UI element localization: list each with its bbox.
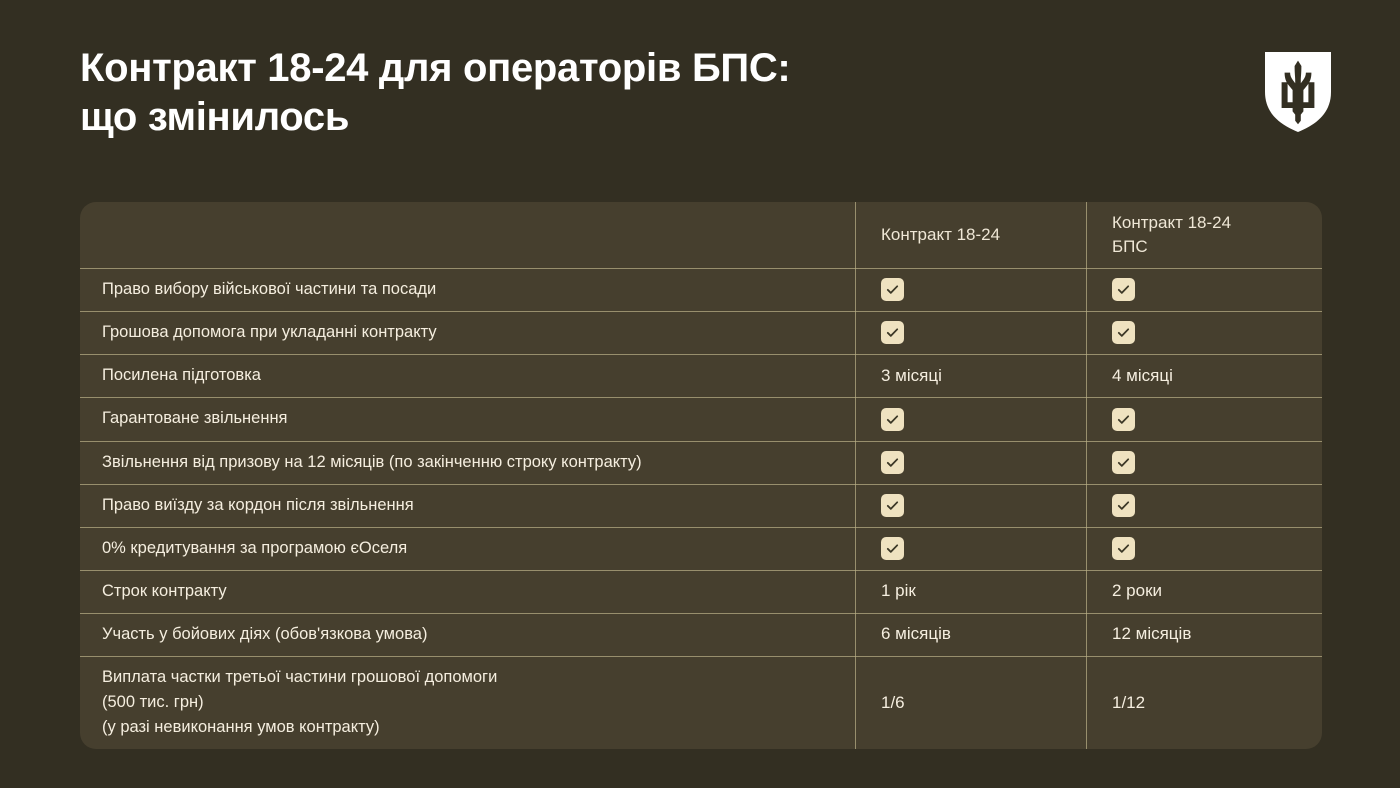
cell-contract-18-24: 6 місяців <box>855 613 1086 656</box>
header-cell-contract-18-24-bps: Контракт 18-24 БПС <box>1086 202 1322 268</box>
row-label: Право вибору військової частини та посад… <box>80 268 855 311</box>
table-row: Виплата частки третьої частини грошової … <box>80 656 1322 749</box>
table-row: Посилена підготовка 3 місяці 4 місяці <box>80 354 1322 397</box>
check-icon <box>881 451 904 474</box>
check-icon <box>1112 408 1135 431</box>
row-label: Виплата частки третьої частини грошової … <box>80 656 855 749</box>
cell-contract-18-24 <box>855 527 1086 570</box>
table-row: 0% кредитування за програмою єОселя <box>80 527 1322 570</box>
cell-contract-18-24-bps <box>1086 311 1322 354</box>
comparison-table: Контракт 18-24 Контракт 18-24 БПС Право … <box>80 202 1322 749</box>
check-icon <box>1112 494 1135 517</box>
check-icon <box>881 278 904 301</box>
cell-value: 12 місяців <box>1112 624 1191 644</box>
cell-contract-18-24-bps <box>1086 527 1322 570</box>
row-label: Строк контракту <box>80 570 855 613</box>
cell-value: 4 місяці <box>1112 366 1173 386</box>
cell-contract-18-24-bps: 4 місяці <box>1086 354 1322 397</box>
cell-contract-18-24 <box>855 268 1086 311</box>
cell-value: 1/6 <box>881 693 905 713</box>
cell-contract-18-24 <box>855 311 1086 354</box>
cell-value: 6 місяців <box>881 624 951 644</box>
check-icon <box>1112 321 1135 344</box>
cell-contract-18-24-bps: 1/12 <box>1086 656 1322 749</box>
row-label: Право виїзду за кордон після звільнення <box>80 484 855 527</box>
check-icon <box>881 537 904 560</box>
cell-contract-18-24-bps: 12 місяців <box>1086 613 1322 656</box>
cell-contract-18-24 <box>855 397 1086 440</box>
row-label: 0% кредитування за програмою єОселя <box>80 527 855 570</box>
header-cell-feature <box>80 202 855 268</box>
row-label: Гарантоване звільнення <box>80 397 855 440</box>
table-row: Участь у бойових діях (обов'язкова умова… <box>80 613 1322 656</box>
row-label: Звільнення від призову на 12 місяців (по… <box>80 441 855 484</box>
table-row: Звільнення від призову на 12 місяців (по… <box>80 441 1322 484</box>
cell-value: 1/12 <box>1112 693 1145 713</box>
cell-contract-18-24 <box>855 484 1086 527</box>
cell-value: 2 роки <box>1112 581 1162 601</box>
table-row: Строк контракту 1 рік 2 роки <box>80 570 1322 613</box>
page-header: Контракт 18-24 для операторів БПС: що зм… <box>80 44 1340 142</box>
cell-value: 1 рік <box>881 581 916 601</box>
cell-value: 3 місяці <box>881 366 942 386</box>
cell-contract-18-24: 1 рік <box>855 570 1086 613</box>
page-title: Контракт 18-24 для операторів БПС: що зм… <box>80 44 790 142</box>
cell-contract-18-24-bps <box>1086 397 1322 440</box>
check-icon <box>1112 537 1135 560</box>
row-label: Посилена підготовка <box>80 354 855 397</box>
cell-contract-18-24-bps <box>1086 484 1322 527</box>
table-row: Право вибору військової частини та посад… <box>80 268 1322 311</box>
cell-contract-18-24-bps <box>1086 441 1322 484</box>
table-row: Право виїзду за кордон після звільнення <box>80 484 1322 527</box>
cell-contract-18-24: 1/6 <box>855 656 1086 749</box>
cell-contract-18-24-bps: 2 роки <box>1086 570 1322 613</box>
infographic-page: Контракт 18-24 для операторів БПС: що зм… <box>0 0 1400 788</box>
check-icon <box>1112 451 1135 474</box>
cell-contract-18-24 <box>855 441 1086 484</box>
header-cell-contract-18-24: Контракт 18-24 <box>855 202 1086 268</box>
check-icon <box>1112 278 1135 301</box>
armed-forces-shield-trident-icon <box>1265 52 1331 132</box>
row-label: Участь у бойових діях (обов'язкова умова… <box>80 613 855 656</box>
row-label: Грошова допомога при укладанні контракту <box>80 311 855 354</box>
cell-contract-18-24: 3 місяці <box>855 354 1086 397</box>
check-icon <box>881 408 904 431</box>
table-row: Гарантоване звільнення <box>80 397 1322 440</box>
check-icon <box>881 321 904 344</box>
table-row: Грошова допомога при укладанні контракту <box>80 311 1322 354</box>
check-icon <box>881 494 904 517</box>
table-header-row: Контракт 18-24 Контракт 18-24 БПС <box>80 202 1322 268</box>
cell-contract-18-24-bps <box>1086 268 1322 311</box>
